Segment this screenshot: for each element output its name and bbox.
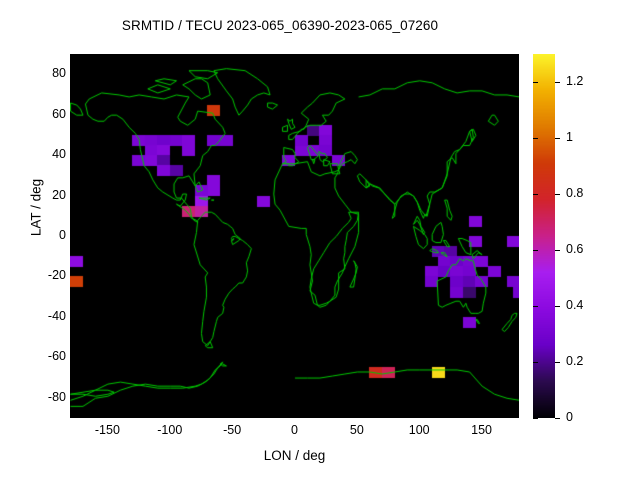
y-axis-ticks: 806040200-20-40-60-80 — [26, 54, 66, 418]
colorbar-tick-mark-inner — [533, 194, 538, 195]
y-tick-label: -40 — [32, 309, 66, 323]
colorbar-tick-mark — [555, 82, 560, 83]
colorbar-ticks: 1.210.80.60.40.20 — [533, 54, 623, 418]
x-axis-label: LON / deg — [70, 448, 519, 463]
x-tick-label: -100 — [140, 423, 200, 437]
colorbar-tick-label: 0.2 — [566, 354, 583, 368]
y-tick-label: 60 — [32, 107, 66, 121]
colorbar-tick-mark — [555, 194, 560, 195]
figure-root: SRMTID / TECU 2023-065_06390-2023-065_07… — [0, 0, 640, 480]
y-tick-label: -80 — [32, 390, 66, 404]
map-plot-area[interactable] — [70, 54, 519, 418]
y-tick-label: 0 — [32, 228, 66, 242]
y-tick-label: -60 — [32, 349, 66, 363]
heatmap-canvas[interactable] — [70, 54, 519, 418]
colorbar-tick-label: 1.2 — [566, 74, 583, 88]
colorbar-tick-mark — [555, 418, 560, 419]
x-tick-label: -50 — [202, 423, 262, 437]
x-tick-label: 50 — [327, 423, 387, 437]
colorbar-tick-label: 0 — [566, 410, 573, 424]
x-tick-label: 100 — [389, 423, 449, 437]
colorbar-tick-mark — [555, 138, 560, 139]
colorbar-tick-label: 0.6 — [566, 242, 583, 256]
chart-title: SRMTID / TECU 2023-065_06390-2023-065_07… — [0, 18, 560, 33]
y-tick-label: 40 — [32, 147, 66, 161]
x-tick-label: 0 — [265, 423, 325, 437]
colorbar-tick-label: 1 — [566, 130, 573, 144]
colorbar-tick-mark — [555, 250, 560, 251]
colorbar-tick-mark-inner — [533, 362, 538, 363]
y-tick-label: 80 — [32, 66, 66, 80]
y-tick-label: 20 — [32, 188, 66, 202]
y-tick-label: -20 — [32, 268, 66, 282]
colorbar-tick-mark-inner — [533, 250, 538, 251]
colorbar-tick-mark-inner — [533, 138, 538, 139]
colorbar-tick-mark-inner — [533, 418, 538, 419]
colorbar-tick-label: 0.4 — [566, 298, 583, 312]
colorbar-tick-mark-inner — [533, 82, 538, 83]
x-tick-label: -150 — [77, 423, 137, 437]
colorbar-tick-mark — [555, 362, 560, 363]
colorbar-tick-mark — [555, 306, 560, 307]
colorbar-tick-label: 0.8 — [566, 186, 583, 200]
x-tick-label: 150 — [452, 423, 512, 437]
x-axis-ticks: -150-100-50050100150 — [70, 420, 519, 442]
colorbar-tick-mark-inner — [533, 306, 538, 307]
